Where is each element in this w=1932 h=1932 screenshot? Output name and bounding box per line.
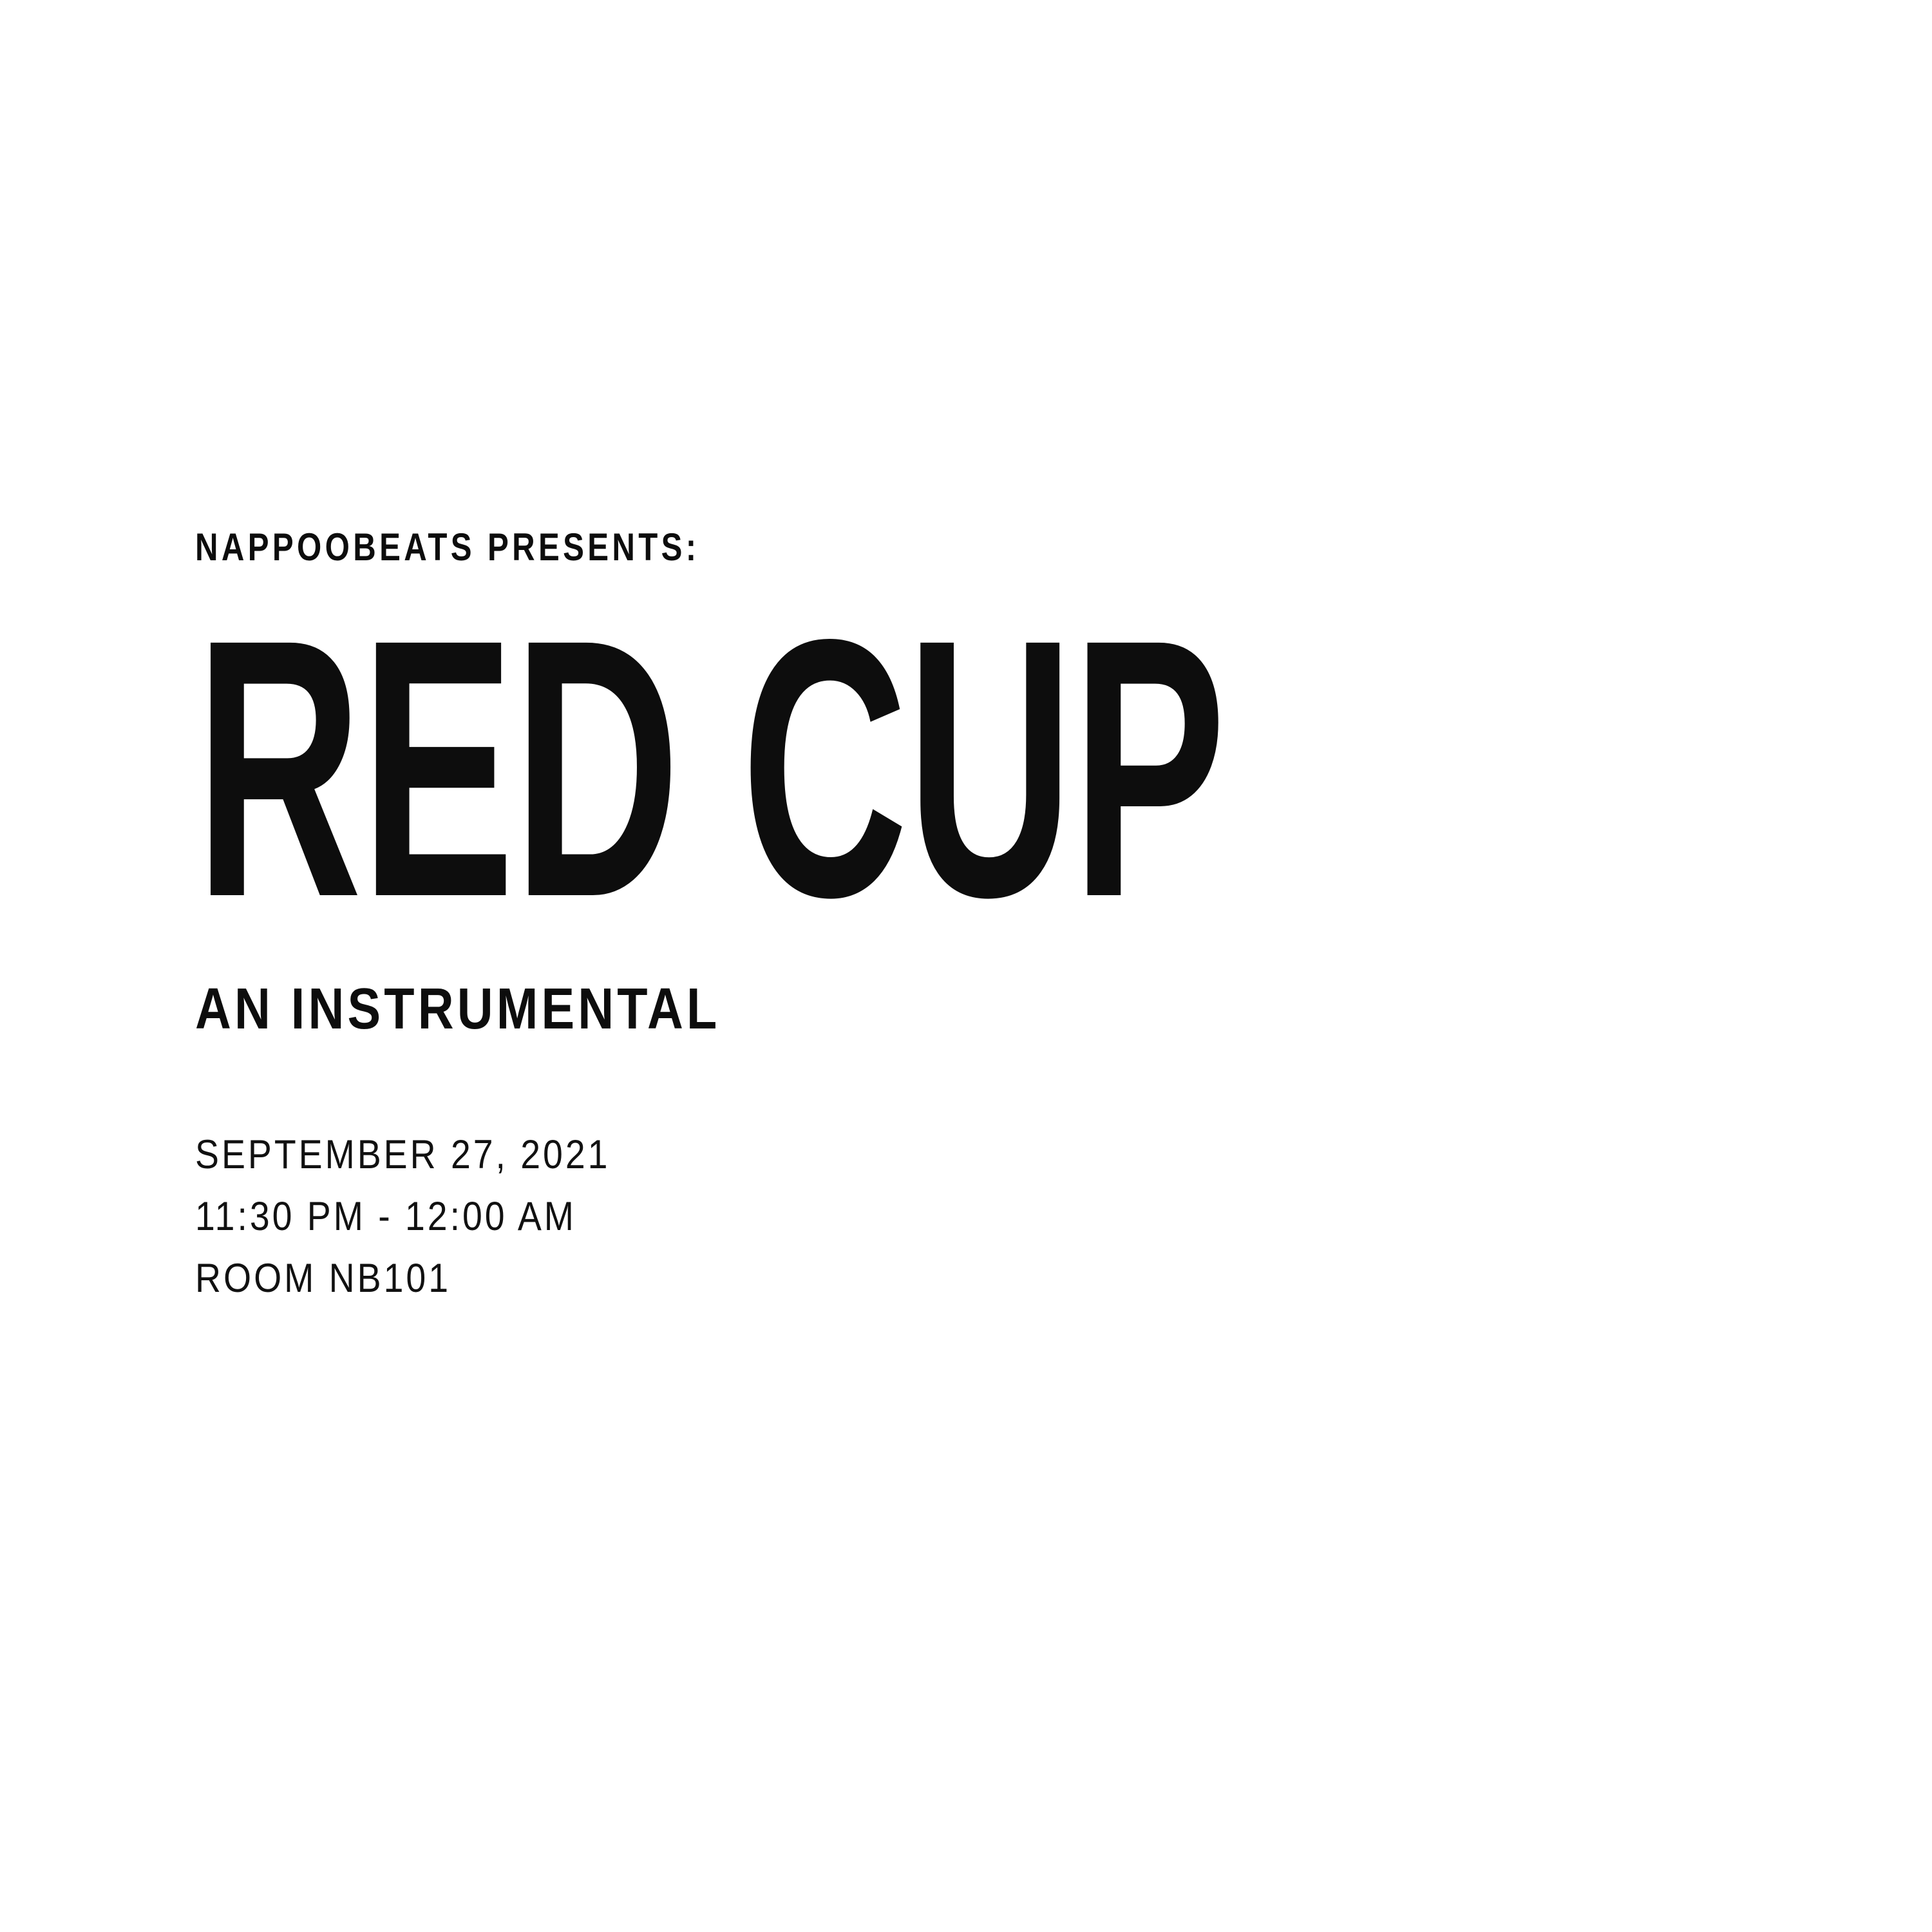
event-detail-time: 11:30 PM - 12:00 AM — [195, 1197, 1555, 1237]
event-details-list: SEPTEMBER 27, 2021 11:30 PM - 12:00 AM R… — [195, 1135, 1741, 1299]
poster-canvas: NAPPOOBEATS PRESENTS: RED CUP AN INSTRUM… — [0, 0, 1932, 1932]
page-title: RED CUP — [195, 636, 1169, 902]
presenter-eyebrow: NAPPOOBEATS PRESENTS: — [195, 528, 1463, 567]
poster-subtitle: AN INSTRUMENTAL — [195, 980, 1524, 1038]
event-detail-date: SEPTEMBER 27, 2021 — [195, 1135, 1555, 1175]
poster-content-stack: NAPPOOBEATS PRESENTS: RED CUP AN INSTRUM… — [195, 528, 1741, 1299]
event-detail-location: ROOM NB101 — [195, 1258, 1555, 1299]
